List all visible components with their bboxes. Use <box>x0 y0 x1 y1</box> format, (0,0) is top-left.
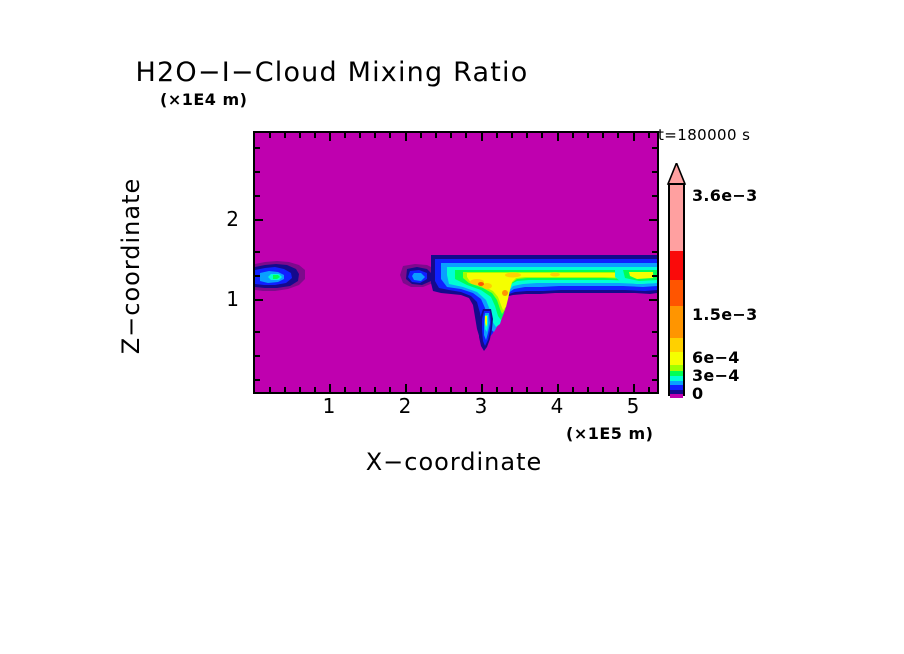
x-tick-top-minor <box>496 133 498 138</box>
x-tick-minor <box>420 387 422 392</box>
y-tick-label: 1 <box>213 287 239 311</box>
x-tick-top-minor <box>299 133 301 138</box>
feature-right-edge <box>615 267 657 284</box>
x-tick-minor <box>299 387 301 392</box>
x-tick-label: 1 <box>309 394 349 418</box>
x-tick-minor <box>314 387 316 392</box>
x-tick-label: 2 <box>385 394 425 418</box>
chart-title-text: H2O−I−Cloud Mixing Ratio <box>136 57 529 88</box>
y-tick-minor <box>255 251 260 253</box>
contour-field <box>255 133 657 392</box>
y-axis-label: Z−coordinate <box>117 126 145 406</box>
x-tick-minor <box>602 387 604 392</box>
y-tick-right-minor <box>652 355 657 357</box>
x-tick-major <box>633 384 635 392</box>
y-tick-label: 2 <box>213 207 239 231</box>
x-tick-minor <box>511 387 513 392</box>
x-tick-minor <box>587 387 589 392</box>
x-tick-minor <box>389 387 391 392</box>
colorbar-label: 3.6e−3 <box>692 186 758 205</box>
x-axis-label: X−coordinate <box>253 448 655 476</box>
x-tick-top-major <box>557 133 559 141</box>
x-tick-major <box>557 384 559 392</box>
y-tick-right-major <box>649 299 657 301</box>
colorbar-segment <box>670 338 683 353</box>
y-tick-minor <box>255 379 260 381</box>
y-tick-minor <box>255 275 260 277</box>
x-tick-minor <box>284 387 286 392</box>
x-tick-top-minor <box>284 133 286 138</box>
x-tick-top-minor <box>389 133 391 138</box>
x-tick-label: 5 <box>613 394 653 418</box>
y-axis-units-label: (×1E4 m) <box>160 90 247 109</box>
colorbar-segment <box>670 394 683 398</box>
colorbar-segment <box>670 352 683 366</box>
colorbar <box>668 183 685 396</box>
x-tick-minor <box>374 387 376 392</box>
x-tick-minor <box>450 387 452 392</box>
x-tick-top-minor <box>450 133 452 138</box>
y-tick-major <box>255 299 263 301</box>
x-axis-units-label: (×1E5 m) <box>566 424 653 443</box>
colorbar-label: 3e−4 <box>692 366 740 385</box>
x-tick-top-minor <box>617 133 619 138</box>
y-tick-right-minor <box>652 251 657 253</box>
x-tick-minor <box>465 387 467 392</box>
y-tick-minor <box>255 195 260 197</box>
x-tick-minor <box>359 387 361 392</box>
colorbar-segment <box>670 185 683 252</box>
colorbar-segment <box>670 306 683 339</box>
x-tick-top-minor <box>541 133 543 138</box>
x-tick-top-major <box>329 133 331 141</box>
y-tick-right-minor <box>652 195 657 197</box>
x-tick-top-minor <box>587 133 589 138</box>
x-tick-top-minor <box>344 133 346 138</box>
x-tick-top-minor <box>269 133 271 138</box>
contour-plot-area <box>253 131 659 394</box>
x-tick-top-minor <box>359 133 361 138</box>
colorbar-label: 1.5e−3 <box>692 305 758 324</box>
x-tick-top-minor <box>648 133 650 138</box>
x-tick-minor <box>617 387 619 392</box>
colorbar-label: 6e−4 <box>692 348 740 367</box>
x-tick-top-minor <box>465 133 467 138</box>
x-tick-label: 4 <box>537 394 577 418</box>
x-tick-minor <box>526 387 528 392</box>
timestamp-label: t=180000 s <box>658 126 750 144</box>
x-tick-top-minor <box>420 133 422 138</box>
x-tick-minor <box>344 387 346 392</box>
x-tick-top-minor <box>374 133 376 138</box>
x-tick-label: 3 <box>461 394 501 418</box>
x-tick-top-minor <box>572 133 574 138</box>
x-tick-minor <box>648 387 650 392</box>
y-tick-minor <box>255 355 260 357</box>
x-tick-top-minor <box>602 133 604 138</box>
y-tick-right-minor <box>652 379 657 381</box>
y-tick-minor <box>255 171 260 173</box>
colorbar-label: 0 <box>692 384 703 403</box>
y-tick-right-major <box>649 219 657 221</box>
y-tick-right-minor <box>652 275 657 277</box>
x-tick-top-major <box>481 133 483 141</box>
x-tick-top-minor <box>526 133 528 138</box>
x-tick-minor <box>541 387 543 392</box>
y-tick-minor <box>255 147 260 149</box>
x-tick-minor <box>269 387 271 392</box>
x-tick-top-major <box>633 133 635 141</box>
x-tick-major <box>329 384 331 392</box>
colorbar-extend-arrow <box>666 163 687 185</box>
colorbar-segment <box>670 280 683 307</box>
x-tick-major <box>481 384 483 392</box>
x-tick-minor <box>496 387 498 392</box>
y-tick-minor <box>255 331 260 333</box>
y-tick-major <box>255 219 263 221</box>
x-tick-top-minor <box>511 133 513 138</box>
x-tick-minor <box>435 387 437 392</box>
y-tick-right-minor <box>652 171 657 173</box>
x-tick-top-major <box>405 133 407 141</box>
y-tick-right-minor <box>652 147 657 149</box>
x-tick-top-minor <box>314 133 316 138</box>
page-title: H2O−I−Cloud Mixing Ratio <box>0 57 904 88</box>
x-tick-top-minor <box>435 133 437 138</box>
x-tick-minor <box>572 387 574 392</box>
colorbar-segment <box>670 251 683 281</box>
x-tick-major <box>405 384 407 392</box>
y-tick-right-minor <box>652 331 657 333</box>
